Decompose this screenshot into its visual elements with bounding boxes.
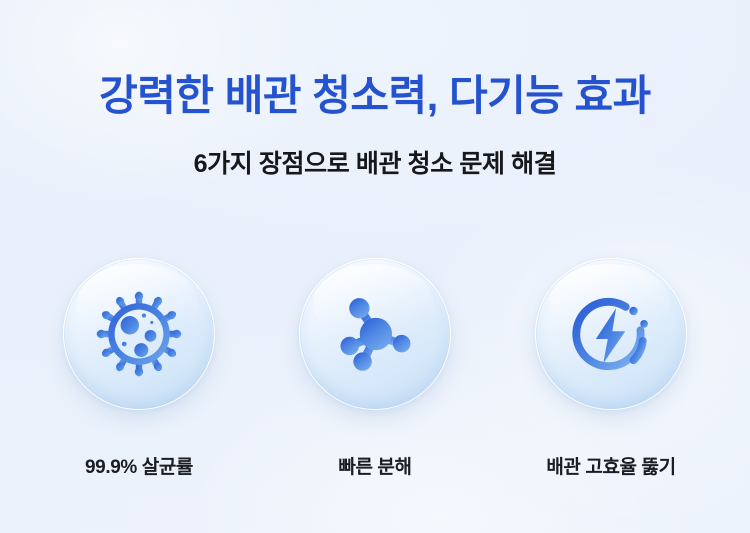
feature-item-efficiency: 배관 고효율 뚫기 xyxy=(526,258,696,479)
feature-label-efficiency: 배관 고효율 뚫기 xyxy=(546,452,675,479)
glass-disc-efficiency xyxy=(535,258,687,410)
page-title: 강력한 배관 청소력, 다기능 효과 xyxy=(0,72,750,119)
feature-row: 99.9% 살균률 xyxy=(0,258,750,479)
feature-label-decomposition: 빠른 분해 xyxy=(338,452,411,479)
glass-disc-sterilization xyxy=(63,258,215,410)
virus-icon xyxy=(93,288,185,380)
headline-block: 강력한 배관 청소력, 다기능 효과 6가지 장점으로 배관 청소 문제 해결 xyxy=(0,72,750,179)
page-subtitle: 6가지 장점으로 배관 청소 문제 해결 xyxy=(0,119,750,179)
glass-disc-decomposition xyxy=(299,258,451,410)
feature-item-sterilization: 99.9% 살균률 xyxy=(54,258,224,479)
feature-label-sterilization: 99.9% 살균률 xyxy=(85,452,193,479)
molecule-icon xyxy=(329,288,421,380)
feature-item-decomposition: 빠른 분해 xyxy=(290,258,460,479)
promo-banner: 강력한 배관 청소력, 다기능 효과 6가지 장점으로 배관 청소 문제 해결 xyxy=(0,0,750,533)
lightning-efficiency-icon xyxy=(565,288,657,380)
